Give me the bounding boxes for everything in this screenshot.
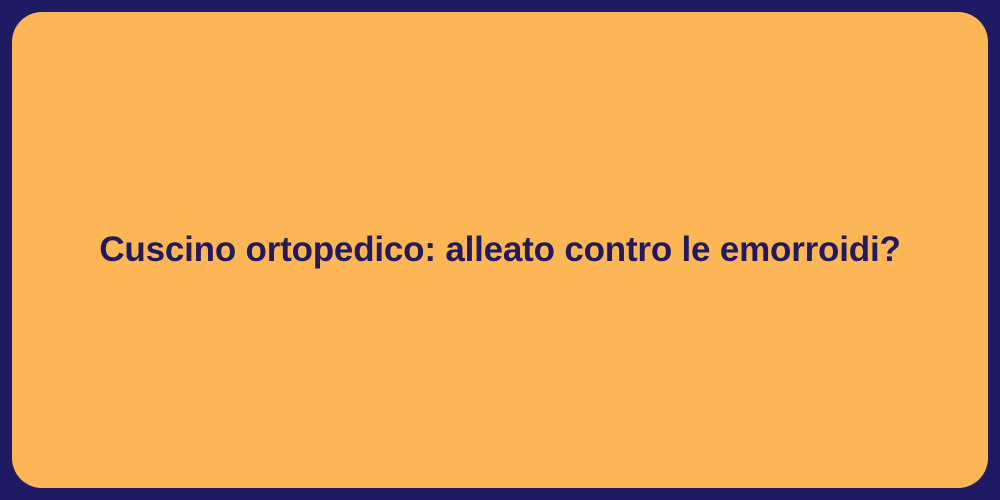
page-title: Cuscino ortopedico: alleato contro le em…	[99, 228, 900, 272]
content-card: Cuscino ortopedico: alleato contro le em…	[12, 12, 988, 488]
page-frame: Cuscino ortopedico: alleato contro le em…	[0, 0, 1000, 500]
